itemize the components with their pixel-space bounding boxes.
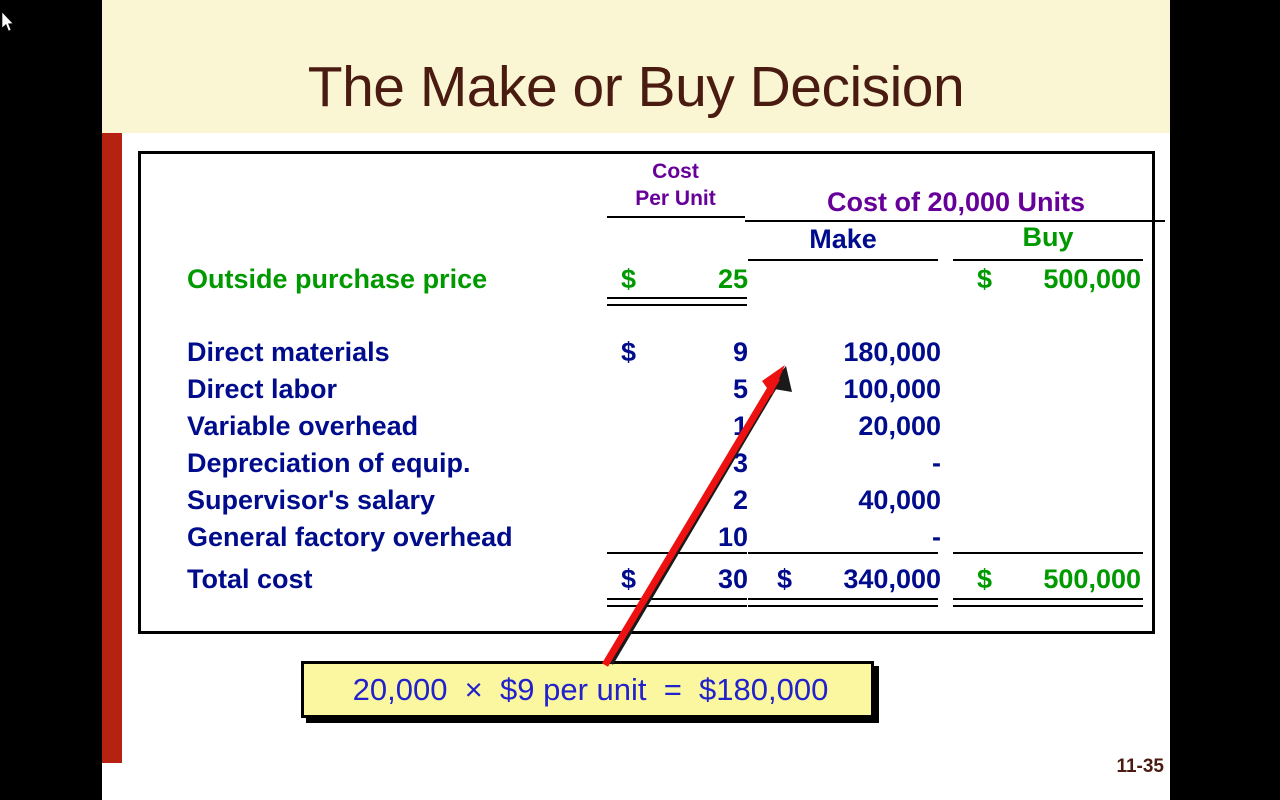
- cell-total-buy: $ 500,000: [971, 564, 1141, 595]
- cell-per-unit: $9: [603, 337, 748, 368]
- rule-per-unit-header: [607, 216, 745, 218]
- cell-total-make: $ 340,000: [771, 564, 941, 595]
- currency-symbol: $: [777, 564, 792, 595]
- cell-make: 180,000: [771, 337, 941, 368]
- slide-canvas: The Make or Buy Decision Cost Per Unit C…: [102, 0, 1170, 800]
- row-label-outside-purchase-price: Outside purchase price: [187, 264, 607, 295]
- callout-text: 20,000 × $9 per unit = $180,000: [304, 672, 877, 708]
- rule-buy-header: [953, 259, 1143, 261]
- cell-per-unit: 5: [603, 374, 748, 405]
- page-title: The Make or Buy Decision: [102, 56, 1170, 118]
- currency-symbol: $: [977, 564, 992, 595]
- value: 5: [733, 374, 748, 404]
- value: 340,000: [843, 564, 941, 594]
- cell-per-unit: 1: [603, 411, 748, 442]
- accent-bar: [102, 133, 122, 763]
- row-label: Direct materials: [187, 337, 607, 368]
- value: 1: [733, 411, 748, 441]
- cell-per-unit: 10: [603, 522, 748, 553]
- title-band: The Make or Buy Decision: [102, 0, 1170, 133]
- row-label: Variable overhead: [187, 411, 607, 442]
- currency-symbol: $: [621, 337, 636, 368]
- value: 500,000: [1043, 264, 1141, 294]
- currency-symbol: $: [621, 564, 636, 595]
- cell-total-per-unit: $ 30: [603, 564, 748, 595]
- rule-total-make: [748, 598, 938, 607]
- cell-per-unit: 3: [603, 448, 748, 479]
- value: 3: [733, 448, 748, 478]
- callout-box: 20,000 × $9 per unit = $180,000: [301, 661, 874, 718]
- cell-make: -: [771, 522, 941, 553]
- header-make: Make: [748, 224, 938, 255]
- header-buy: Buy: [953, 222, 1143, 253]
- cell-purchase-buy: $ 500,000: [971, 264, 1141, 295]
- rule-subtotal-per-unit: [607, 552, 747, 554]
- row-label: Depreciation of equip.: [187, 448, 607, 479]
- header-cost: Cost: [603, 160, 748, 184]
- currency-symbol: $: [977, 264, 992, 295]
- rule-total-buy: [953, 598, 1143, 607]
- cell-make: 100,000: [771, 374, 941, 405]
- value: 9: [733, 337, 748, 367]
- rule-subtotal-buy: [953, 552, 1143, 554]
- currency-symbol: $: [621, 264, 636, 295]
- rule-make-header: [748, 259, 938, 261]
- value: 2: [733, 485, 748, 515]
- row-label: General factory overhead: [187, 522, 607, 553]
- row-label-total-cost: Total cost: [187, 564, 607, 595]
- header-per-unit: Per Unit: [603, 187, 748, 211]
- value: 10: [718, 522, 748, 552]
- cell-make: 20,000: [771, 411, 941, 442]
- value: 500,000: [1043, 564, 1141, 594]
- screen: The Make or Buy Decision Cost Per Unit C…: [0, 0, 1280, 800]
- header-cost-of-units: Cost of 20,000 Units: [741, 187, 1171, 218]
- rule-total-per-unit: [607, 598, 747, 607]
- cursor-icon: [2, 12, 16, 34]
- cell-per-unit: 2: [603, 485, 748, 516]
- cell-purchase-per-unit: $ 25: [603, 264, 748, 295]
- row-label: Direct labor: [187, 374, 607, 405]
- value: 25: [718, 264, 748, 294]
- page-number: 11-35: [1116, 756, 1164, 778]
- cell-make: 40,000: [771, 485, 941, 516]
- value: 30: [718, 564, 748, 594]
- cost-comparison-table: Cost Per Unit Cost of 20,000 Units Make …: [138, 151, 1155, 634]
- cell-make: -: [771, 448, 941, 479]
- rule-subtotal-make: [748, 552, 938, 554]
- rule-purchase-per-unit: [607, 297, 747, 306]
- row-label: Supervisor's salary: [187, 485, 607, 516]
